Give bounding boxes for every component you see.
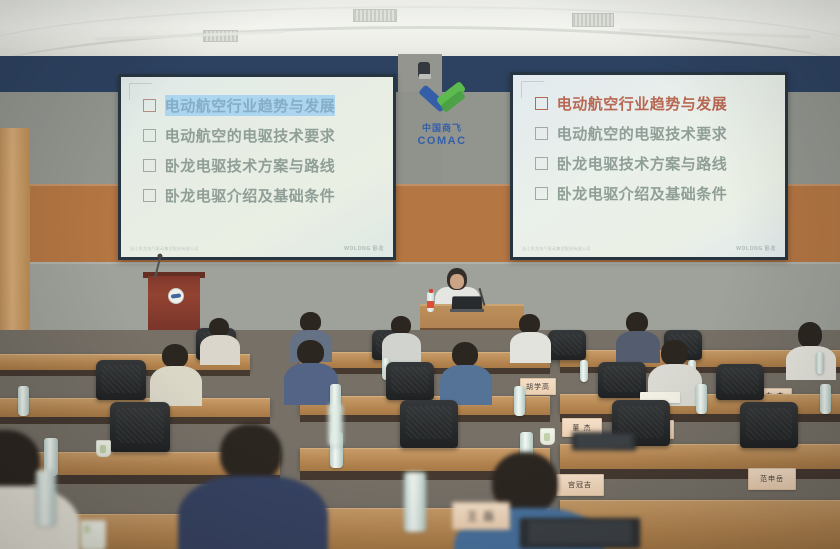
name-placard-1: 胡学高 <box>520 378 556 395</box>
checkbox-outline-icon <box>535 157 548 170</box>
water-bottle-row3-3 <box>514 386 525 416</box>
water-bottle-row2-1 <box>44 438 58 476</box>
attendee-body <box>786 346 836 380</box>
ceiling-vent-center <box>353 9 397 22</box>
agenda-item-3-label-right: 卧龙电驱技术方案与路线 <box>557 153 728 174</box>
desk-apron <box>560 414 840 422</box>
checkbox-outline-icon <box>143 129 156 142</box>
attendee-body <box>616 331 660 363</box>
water-bottle-row3-4 <box>696 384 707 414</box>
attendee-body <box>200 335 240 365</box>
chair-row2-2 <box>400 400 458 448</box>
name-placard-6: 宫冠吉 <box>556 474 604 496</box>
agenda-item-2-left: 电动航空的电驱技术要求 <box>143 125 393 146</box>
name-placard-7: 范申岳 <box>748 468 796 490</box>
slide-footer-left-brand: WOLONG 卧龙 <box>344 245 384 252</box>
slide-agenda-right: 电动航空行业趋势与发展 电动航空的电驱技术要求 卧龙电驱技术方案与路线 卧龙电驱… <box>513 93 785 213</box>
water-bottle-row2-3 <box>520 432 533 468</box>
wall-seam-d <box>0 262 840 264</box>
desk-row-front-right <box>560 500 840 549</box>
lectern-emblem-icon <box>168 288 184 304</box>
desk-row-2-right <box>560 444 840 469</box>
checkbox-outline-icon <box>535 127 548 140</box>
agenda-item-1-right: 电动航空行业趋势与发展 <box>535 93 785 114</box>
checkbox-outline-icon <box>535 97 548 110</box>
attendee-head <box>452 342 478 367</box>
name-placard-7-text: 范申岳 <box>760 474 784 484</box>
attendee-head <box>798 322 822 348</box>
agenda-item-3-left: 卧龙电驱技术方案与路线 <box>143 155 393 176</box>
attendee-body <box>150 366 202 406</box>
attendee-head <box>300 312 321 332</box>
ceiling-vent-right <box>572 13 614 27</box>
presenter-water-bottle <box>427 292 434 312</box>
attendee-head <box>626 312 648 333</box>
attendee-head <box>519 314 540 334</box>
agenda-item-4-label-right: 卧龙电驱介绍及基础条件 <box>557 183 728 204</box>
agenda-item-1-label-left: 电动航空行业趋势与发展 <box>165 95 336 116</box>
name-placard-1-text: 胡学高 <box>526 382 550 392</box>
slide-footer-right-company: 浙江卧龙电气驱动集团股份有限公司 <box>522 246 591 252</box>
projection-screen-left-surface: 电动航空行业趋势与发展 电动航空的电驱技术要求 卧龙电驱技术方案与路线 卧龙电驱… <box>121 77 393 257</box>
agenda-item-3-label-left: 卧龙电驱技术方案与路线 <box>165 155 336 176</box>
water-bottle-far-2 <box>580 360 588 382</box>
checkbox-outline-icon <box>143 159 156 172</box>
attendee-head <box>661 340 688 366</box>
attendee-body <box>510 332 551 363</box>
slide-agenda-left: 电动航空行业趋势与发展 电动航空的电驱技术要求 卧龙电驱技术方案与路线 卧龙电驱… <box>121 95 393 215</box>
water-bottle-far-4 <box>816 352 824 374</box>
presenter-face <box>450 274 464 289</box>
paper-cup-1 <box>96 440 111 457</box>
agenda-item-2-label-right: 电动航空的电驱技术要求 <box>557 123 728 144</box>
lectern <box>148 276 200 336</box>
desk-apron <box>0 475 280 484</box>
checkbox-outline-icon <box>143 189 156 202</box>
attendee-head <box>297 340 324 365</box>
agenda-item-1-label-right: 电动航空行业趋势与发展 <box>557 93 728 114</box>
checkbox-outline-icon <box>143 99 156 112</box>
name-placard-4: 董 杰 <box>562 418 602 437</box>
presenter-laptop <box>452 296 483 310</box>
agenda-item-2-right: 电动航空的电驱技术要求 <box>535 123 785 144</box>
water-bottle-row3-1 <box>18 386 29 416</box>
projection-screen-right: 电动航空行业趋势与发展 电动航空的电驱技术要求 卧龙电驱技术方案与路线 卧龙电驱… <box>510 72 788 260</box>
name-placard-4-text: 董 杰 <box>572 423 591 433</box>
desk-apron <box>300 471 550 480</box>
agenda-item-2-label-left: 电动航空的电驱技术要求 <box>165 125 336 146</box>
agenda-item-4-label-left: 卧龙电驱介绍及基础条件 <box>165 185 336 206</box>
attendee-head <box>162 344 188 368</box>
comac-logo-chinese: 中国商飞 <box>406 124 478 135</box>
chair-row2-3 <box>612 400 670 446</box>
agenda-item-3-right: 卧龙电驱技术方案与路线 <box>535 153 785 174</box>
chair-far-3 <box>548 330 586 360</box>
projection-screen-right-surface: 电动航空行业趋势与发展 电动航空的电驱技术要求 卧龙电驱技术方案与路线 卧龙电驱… <box>513 75 785 257</box>
presenter-laptop-base <box>450 309 484 312</box>
slide-footer-right-brand: WOLONG 卧龙 <box>736 245 776 252</box>
name-placard-6-text: 宫冠吉 <box>568 480 592 490</box>
comac-logo-english: COMAC <box>406 135 478 147</box>
conference-room-photo: 中国商飞 COMAC 电动航空行业趋势与发展 电动航空的电驱技术要求 卧龙电驱技… <box>0 0 840 549</box>
chair-row2-4 <box>740 402 798 448</box>
chair-row2-1 <box>110 402 170 452</box>
attendee-body <box>440 365 492 405</box>
desk-row-front-mid <box>300 508 550 549</box>
chair-row3-4 <box>716 364 764 400</box>
desk-row-front-left <box>0 514 290 549</box>
water-bottle-row2-2 <box>330 432 343 468</box>
agenda-item-4-right: 卧龙电驱介绍及基础条件 <box>535 183 785 204</box>
agenda-item-4-left: 卧龙电驱介绍及基础条件 <box>143 185 393 206</box>
projection-screen-left: 电动航空行业趋势与发展 电动航空的电驱技术要求 卧龙电驱技术方案与路线 卧龙电驱… <box>118 74 396 260</box>
chair-row3-2 <box>386 362 434 400</box>
checkbox-outline-icon <box>535 187 548 200</box>
slide-footer-left-company: 浙江卧龙电气驱动集团股份有限公司 <box>130 246 199 252</box>
paper-cup-2 <box>540 428 555 445</box>
chair-row3-1 <box>96 360 146 400</box>
ceiling <box>0 0 840 60</box>
water-bottle-row3-5 <box>820 384 831 414</box>
desk-row-2-left <box>0 452 280 475</box>
agenda-item-1-left: 电动航空行业趋势与发展 <box>143 95 393 116</box>
ceiling-camera-icon <box>418 62 430 78</box>
water-bottle-row3-2 <box>330 384 341 414</box>
chair-row3-3 <box>598 362 646 398</box>
comac-logo-mark <box>406 88 478 124</box>
comac-logo: 中国商飞 COMAC <box>406 88 478 147</box>
